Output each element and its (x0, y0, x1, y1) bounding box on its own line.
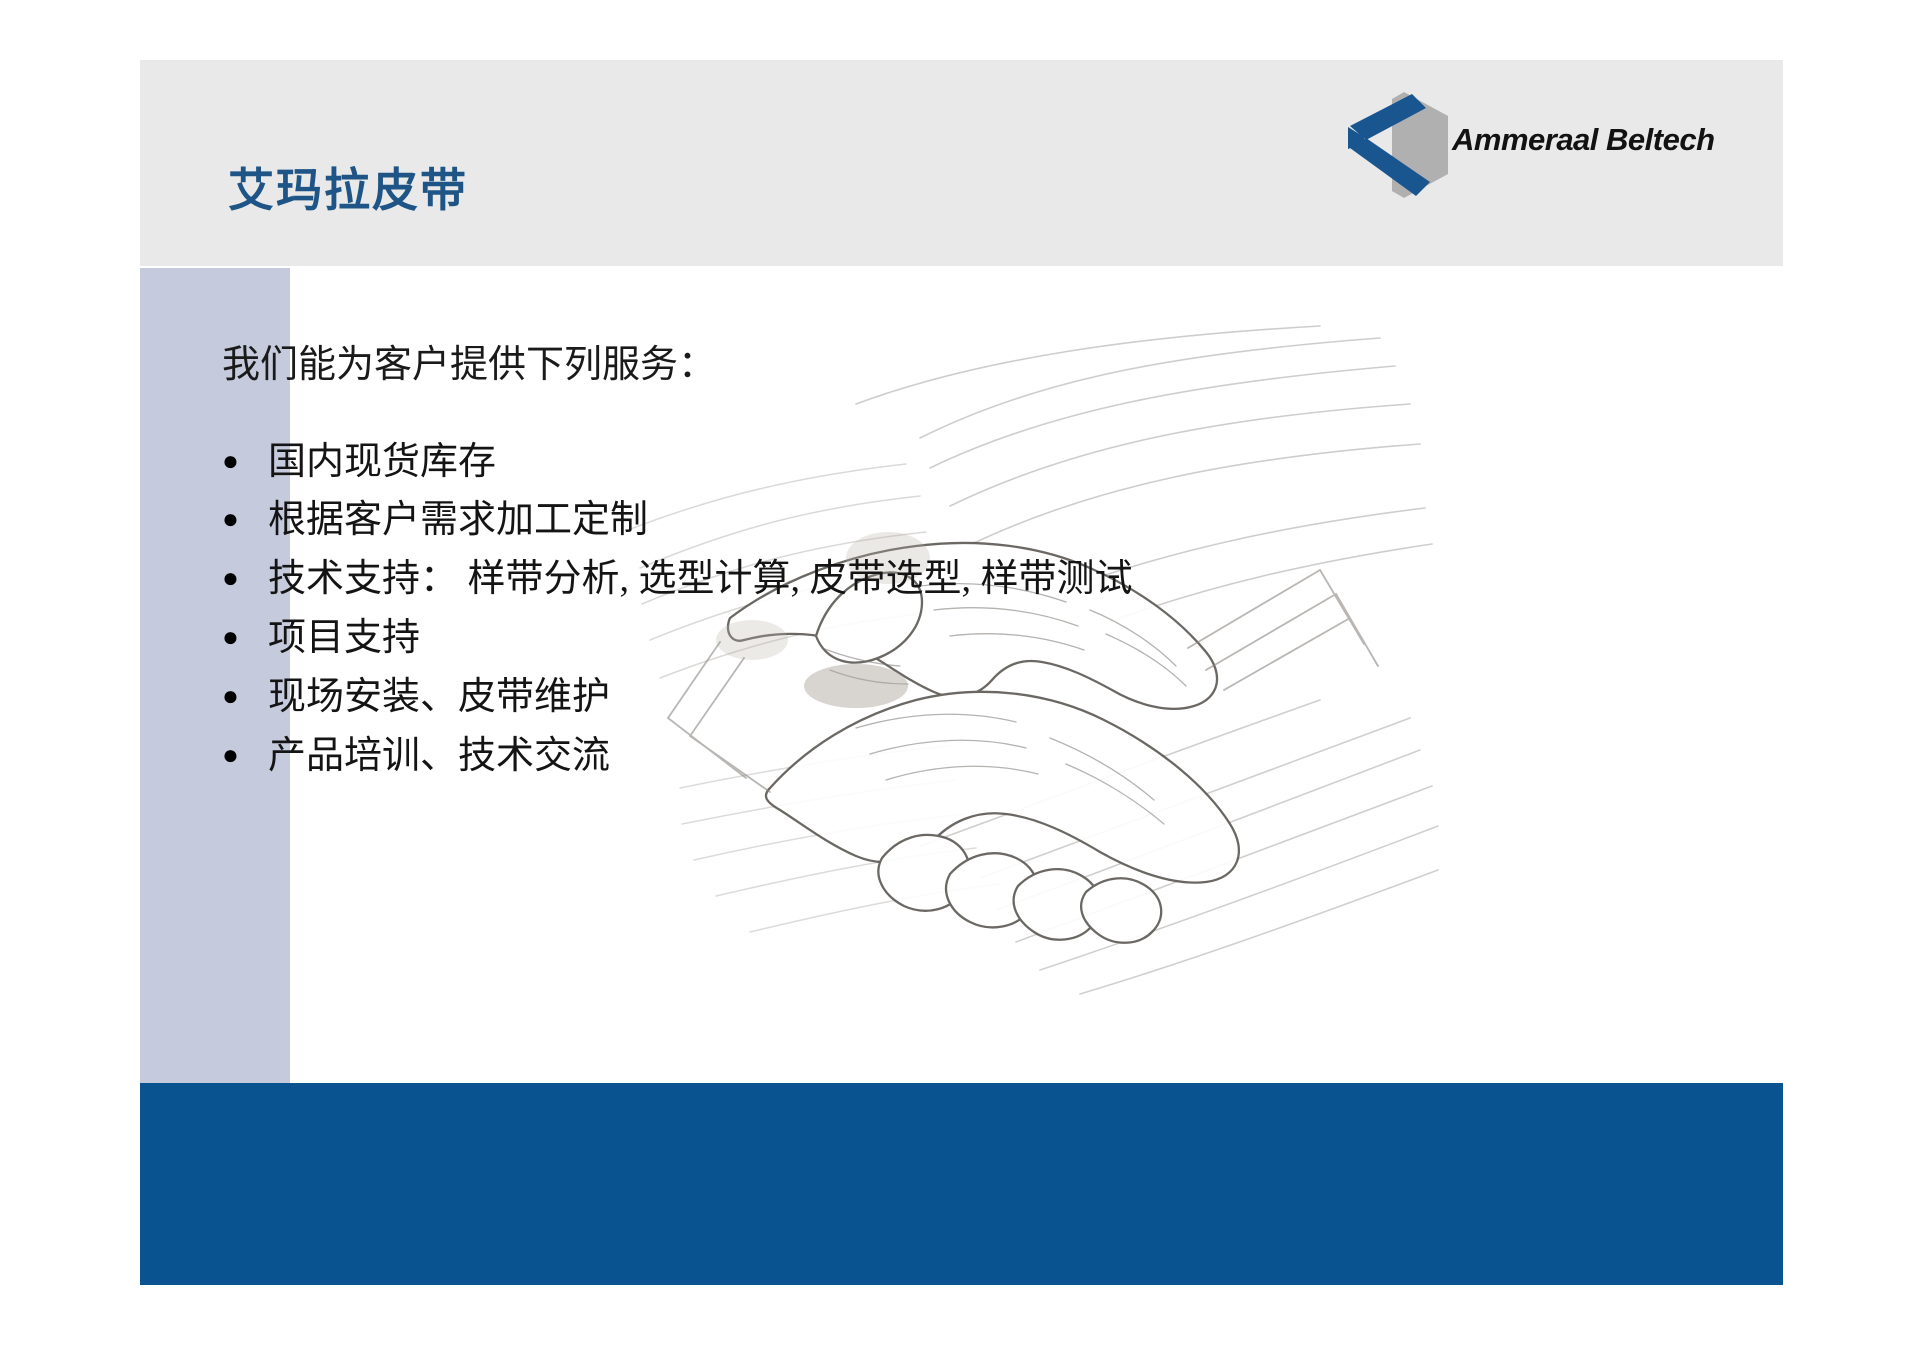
bullet-dot-icon: ● (222, 742, 268, 770)
list-item-label: 根据客户需求加工定制 (268, 494, 648, 548)
list-item: ● 项目支持 (222, 612, 1522, 666)
brand-logo-text: Ammeraal Beltech (1452, 122, 1715, 158)
list-item: ● 技术支持： 样带分析, 选型计算, 皮带选型, 样带测试 (222, 553, 1522, 607)
slide-body: 我们能为客户提供下列服务： ● 国内现货库存 ● 根据客户需求加工定制 ● 技术… (222, 342, 1522, 789)
list-item: ● 产品培训、技术交流 (222, 730, 1522, 784)
bullet-dot-icon: ● (222, 448, 268, 476)
bullet-dot-icon: ● (222, 565, 268, 593)
list-item: ● 根据客户需求加工定制 (222, 494, 1522, 548)
footer-band (140, 1083, 1783, 1285)
list-item-label: 技术支持： 样带分析, 选型计算, 皮带选型, 样带测试 (268, 553, 1133, 607)
intro-text: 我们能为客户提供下列服务： (222, 342, 1522, 390)
bullet-dot-icon: ● (222, 683, 268, 711)
list-item-label: 项目支持 (268, 612, 420, 666)
bullet-dot-icon: ● (222, 624, 268, 652)
list-item-label: 产品培训、技术交流 (268, 730, 610, 784)
list-item-label: 国内现货库存 (268, 436, 496, 490)
list-item: ● 国内现货库存 (222, 436, 1522, 490)
slide-canvas: 艾玛拉皮带 Ammeraal Beltech (0, 0, 1920, 1351)
list-item: ● 现场安装、皮带维护 (222, 671, 1522, 725)
bullet-dot-icon: ● (222, 506, 268, 534)
list-item-label: 现场安装、皮带维护 (268, 671, 610, 725)
page-title: 艾玛拉皮带 (228, 166, 468, 217)
brand-logo: Ammeraal Beltech (1344, 86, 1644, 204)
ammeraal-chevron-logo-icon (1344, 86, 1454, 204)
